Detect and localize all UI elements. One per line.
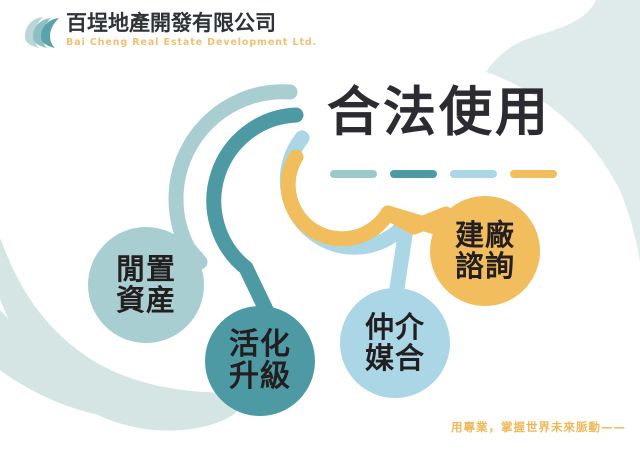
node-plant-consulting-line2: 諮詢: [455, 251, 515, 282]
dash-amber: [510, 170, 557, 178]
poster-canvas: 百埕地產開發有限公司 Bai Cheng Real Estate Develop…: [0, 0, 640, 453]
node-idle-asset[interactable]: 閒置 資産: [88, 227, 204, 343]
node-brokerage-matching[interactable]: 仲介 媒合: [340, 288, 450, 398]
headline-title: 合法使用: [327, 86, 551, 139]
bai-cheng-leaf-mark-icon: [22, 15, 62, 49]
company-logo[interactable]: 百埕地產開發有限公司 Bai Cheng Real Estate Develop…: [22, 13, 317, 49]
node-brokerage-matching-line2: 媒合: [365, 343, 425, 374]
logo-text-block: 百埕地產開發有限公司 Bai Cheng Real Estate Develop…: [66, 13, 317, 48]
arc-deep-teal-path: [214, 115, 296, 318]
node-idle-asset-line1: 閒置: [116, 254, 176, 285]
node-idle-asset-line2: 資産: [116, 285, 176, 316]
company-name-cn: 百埕地產開發有限公司: [66, 13, 317, 34]
headline-dash-row: [330, 170, 557, 178]
concentric-arc-diagram: [0, 0, 640, 453]
dash-pale-teal: [330, 170, 377, 178]
node-plant-consulting-line1: 建廠: [455, 220, 515, 251]
node-revitalize-upgrade-line2: 升級: [229, 361, 291, 393]
dash-light-blue: [450, 170, 497, 178]
dash-deep-teal: [390, 170, 437, 178]
node-brokerage-matching-line1: 仲介: [365, 312, 425, 343]
node-revitalize-upgrade-line1: 活化: [229, 329, 291, 361]
footer-tagline: 用專業，掌握世界未來脈動——: [451, 419, 626, 435]
company-name-en: Bai Cheng Real Estate Development Ltd.: [66, 38, 317, 48]
node-revitalize-upgrade[interactable]: 活化 升級: [205, 306, 315, 416]
node-plant-consulting[interactable]: 建廠 諮詢: [430, 196, 540, 306]
